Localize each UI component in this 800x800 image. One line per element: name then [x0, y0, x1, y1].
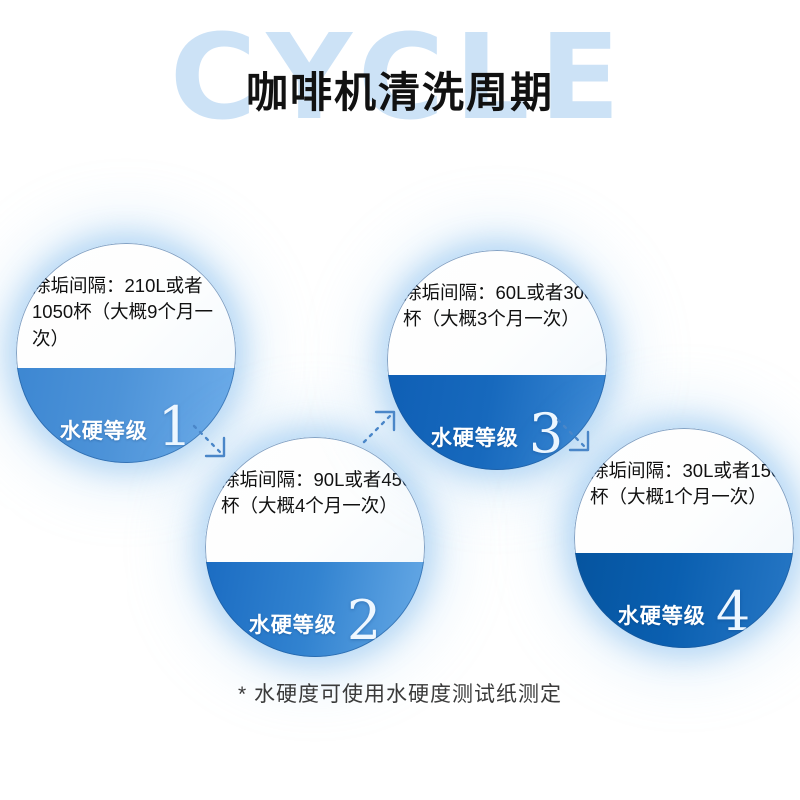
bubble-3-number: 3	[529, 412, 563, 456]
bubble-3-label: 水硬等级	[431, 422, 519, 456]
footnote-text: * 水硬度可使用水硬度测试纸测定	[0, 678, 800, 708]
bubble-1-descale-text: 除垢间隔：210L或者1050杯（大概9个月一次）	[32, 273, 224, 352]
hardness-level-1-circle: 除垢间隔：210L或者1050杯（大概9个月一次） 水硬等级 1	[16, 243, 236, 463]
bubble-1-label: 水硬等级	[60, 415, 148, 449]
hardness-level-2-circle: 除垢间隔：90L或者450杯（大概4个月一次） 水硬等级 2	[205, 437, 425, 657]
bubble-4-number: 4	[716, 590, 750, 634]
bubble-1-number: 1	[158, 405, 192, 449]
bubble-4-label: 水硬等级	[618, 600, 706, 634]
infographic-canvas: CYCLE 咖啡机清洗周期 除垢间隔：210L或者1050杯（大概9个月一次） …	[0, 0, 800, 800]
bubble-3-descale-text: 除垢间隔：60L或者300杯（大概3个月一次）	[403, 280, 595, 333]
bubble-4-label-row: 水硬等级 4	[574, 590, 794, 634]
bubble-2-descale-text: 除垢间隔：90L或者450杯（大概4个月一次）	[221, 467, 413, 520]
bubble-2-number: 2	[347, 599, 381, 643]
bubble-2-label-row: 水硬等级 2	[205, 599, 425, 643]
bubble-1-label-row: 水硬等级 1	[16, 405, 236, 449]
bubble-4-descale-text: 除垢间隔：30L或者150杯（大概1个月一次）	[590, 458, 782, 511]
hardness-level-4-circle: 除垢间隔：30L或者150杯（大概1个月一次） 水硬等级 4	[574, 428, 794, 648]
page-title: 咖啡机清洗周期	[0, 68, 800, 118]
bubble-2-label: 水硬等级	[249, 609, 337, 643]
